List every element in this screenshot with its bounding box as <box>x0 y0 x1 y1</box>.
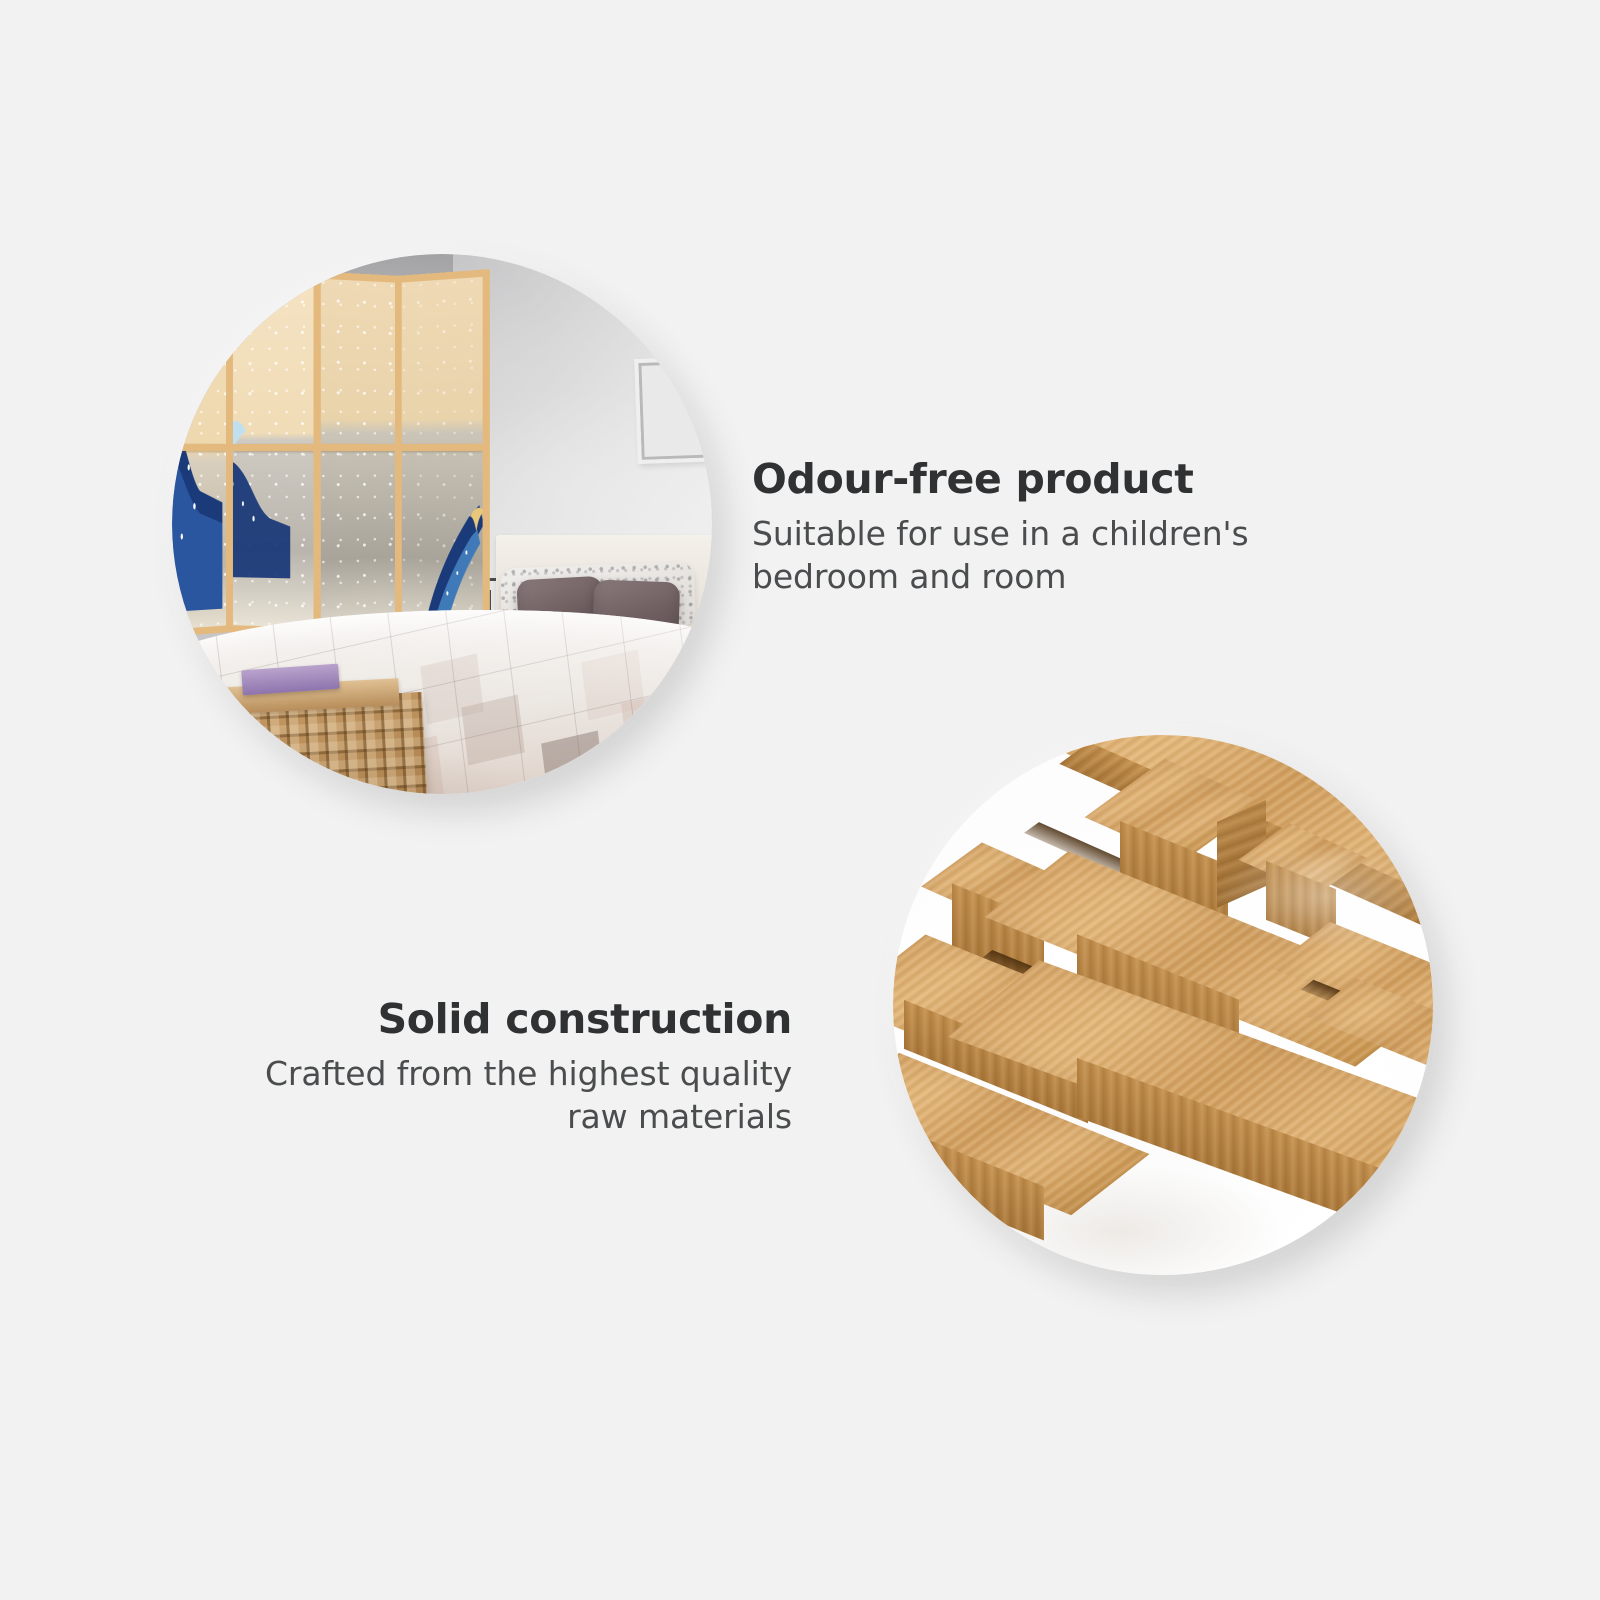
wall-picture-frame <box>635 355 712 464</box>
feature-image-solid-construction <box>893 735 1433 1275</box>
great-wave-art <box>226 329 290 578</box>
feature-text-solid-construction: Solid construction Crafted from the high… <box>252 998 792 1138</box>
folding-room-divider <box>172 276 491 632</box>
feature-subtitle: Crafted from the highest quality raw mat… <box>252 1053 792 1137</box>
wood-planks-photo <box>893 735 1433 1275</box>
divider-panel-1 <box>172 268 234 641</box>
feature-text-odour-free: Odour-free product Suitable for use in a… <box>752 458 1272 598</box>
timber-stack <box>893 735 1433 1275</box>
divider-panel-3 <box>314 271 403 637</box>
bedroom-photo <box>172 254 712 794</box>
feature-title: Odour-free product <box>752 458 1272 501</box>
feature-title: Solid construction <box>252 998 792 1041</box>
feature-image-odour-free <box>172 254 712 794</box>
divider-panel-2 <box>226 273 322 635</box>
feature-subtitle: Suitable for use in a children's bedroom… <box>752 513 1272 597</box>
divider-panel-4 <box>395 269 490 639</box>
great-wave-art <box>172 306 223 616</box>
promo-canvas: Odour-free product Suitable for use in a… <box>0 0 1600 1600</box>
